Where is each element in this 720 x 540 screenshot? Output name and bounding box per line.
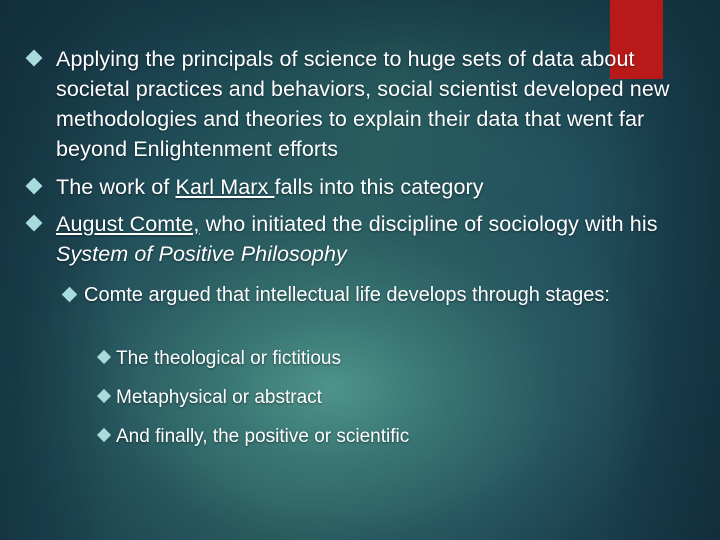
bullet-stage-metaphysical: Metaphysical or abstract bbox=[99, 384, 699, 411]
bullet-text: Metaphysical or abstract bbox=[116, 384, 322, 411]
diamond-bullet-icon bbox=[97, 428, 111, 442]
bullet-text: The work of Karl Marx falls into this ca… bbox=[56, 172, 484, 202]
diamond-bullet-icon bbox=[62, 287, 78, 303]
text-run: falls into this category bbox=[274, 175, 483, 199]
diamond-bullet-icon bbox=[26, 178, 43, 195]
text-run: who initiated the discipline of sociolog… bbox=[200, 212, 658, 236]
slide: Applying the principals of science to hu… bbox=[0, 0, 720, 540]
bullet-karl-marx: The work of Karl Marx falls into this ca… bbox=[28, 172, 696, 202]
bullet-text: Comte argued that intellectual life deve… bbox=[84, 281, 610, 310]
bullet-text: Applying the principals of science to hu… bbox=[56, 44, 694, 164]
underlined-term: Karl Marx bbox=[176, 175, 275, 199]
text-run: The theological or fictitious bbox=[116, 348, 341, 369]
bullet-text: The theological or fictitious bbox=[116, 345, 341, 372]
bullet-text: August Comte, who initiated the discipli… bbox=[56, 209, 694, 269]
bullet-august-comte: August Comte, who initiated the discipli… bbox=[28, 209, 696, 269]
diamond-bullet-icon bbox=[26, 215, 43, 232]
bullet-stage-theological: The theological or fictitious bbox=[99, 345, 699, 372]
diamond-bullet-icon bbox=[97, 389, 111, 403]
bullet-text: And finally, the positive or scientific bbox=[116, 423, 409, 450]
text-run: Applying the principals of science to hu… bbox=[56, 47, 670, 161]
italic-title: System of Positive Philosophy bbox=[56, 242, 347, 266]
text-run: The work of bbox=[56, 175, 176, 199]
bullet-stage-positive: And finally, the positive or scientific bbox=[99, 423, 699, 450]
bullet-applying-principals: Applying the principals of science to hu… bbox=[28, 44, 696, 164]
diamond-bullet-icon bbox=[26, 50, 43, 67]
diamond-bullet-icon bbox=[97, 350, 111, 364]
underlined-term: August Comte, bbox=[56, 212, 200, 236]
text-run: Comte argued that intellectual life deve… bbox=[84, 284, 610, 306]
slide-content-body: Applying the principals of science to hu… bbox=[0, 0, 720, 540]
text-run: And finally, the positive or scientific bbox=[116, 426, 409, 447]
text-run: Metaphysical or abstract bbox=[116, 387, 322, 408]
bullet-comte-stages: Comte argued that intellectual life deve… bbox=[64, 281, 694, 310]
